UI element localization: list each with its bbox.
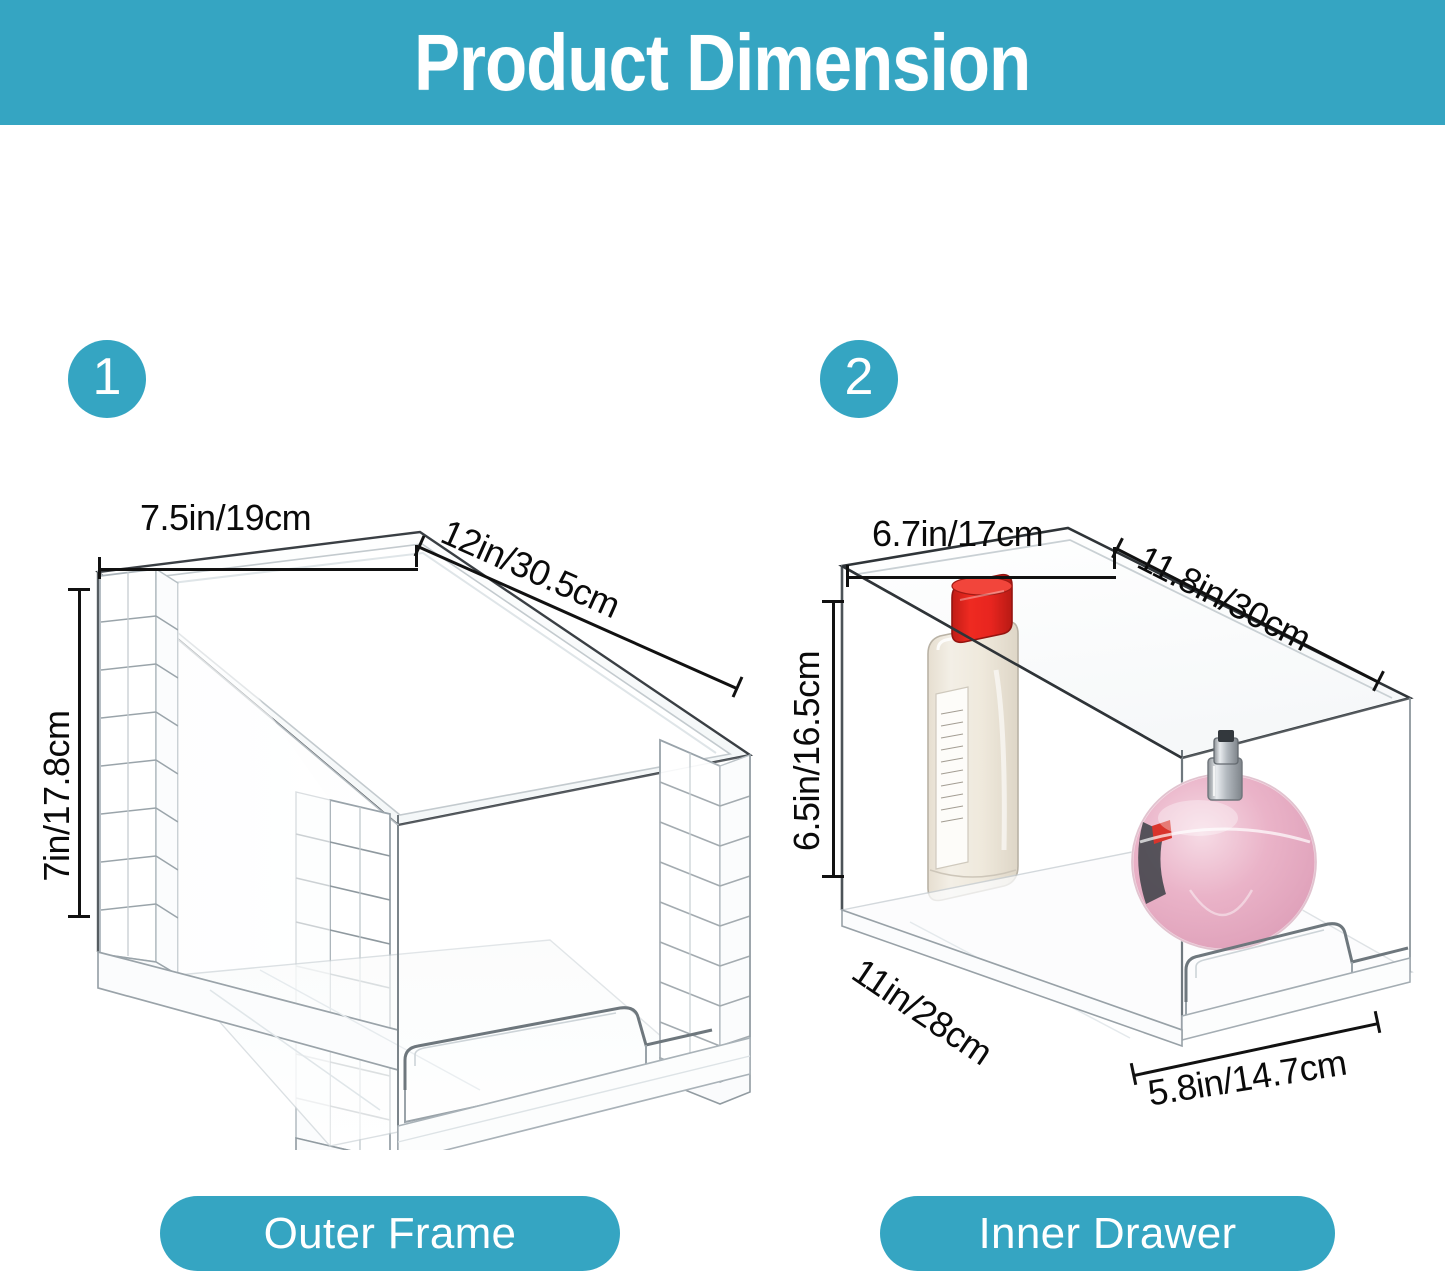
product-badge-2-label: 2 [845,351,874,403]
outer-frame-dim-height-tick-bottom [68,915,90,918]
product-badge-1: 1 [68,340,146,418]
outer-frame-dim-width-line [98,568,418,571]
inner-drawer-dim-height-line [832,600,835,878]
inner-drawer-label-pill: Inner Drawer [880,1196,1335,1271]
outer-frame-dim-height: 7in/17.8cm [36,676,78,916]
page-title: Product Dimension [414,23,1030,103]
outer-frame-label-text: Outer Frame [264,1209,517,1259]
header-banner: Product Dimension [0,0,1445,125]
outer-frame-dim-height-line [78,588,81,918]
outer-frame-label-pill: Outer Frame [160,1196,620,1271]
inner-drawer-dim-height: 6.5in/16.5cm [786,616,828,886]
inner-drawer-dim-width-tick-left [846,565,849,587]
inner-drawer-dim-width-line [846,576,1116,579]
inner-drawer-dim-height-tick-top [822,600,844,603]
outer-frame-dim-height-tick-top [68,588,90,591]
inner-drawer-dim-height-tick-bottom [822,875,844,878]
inner-drawer-label-text: Inner Drawer [979,1209,1237,1259]
outer-frame-ribbed-post-back-left [100,569,178,998]
outer-frame-dim-width: 7.5in/19cm [140,497,311,539]
outer-frame-illustration [60,470,760,1150]
inner-drawer-dim-width: 6.7in/17cm [872,513,1043,555]
inner-drawer-illustration [800,470,1440,1150]
product-badge-1-label: 1 [93,351,122,403]
outer-frame-dim-width-tick-left [98,557,101,579]
product-badge-2: 2 [820,340,898,418]
